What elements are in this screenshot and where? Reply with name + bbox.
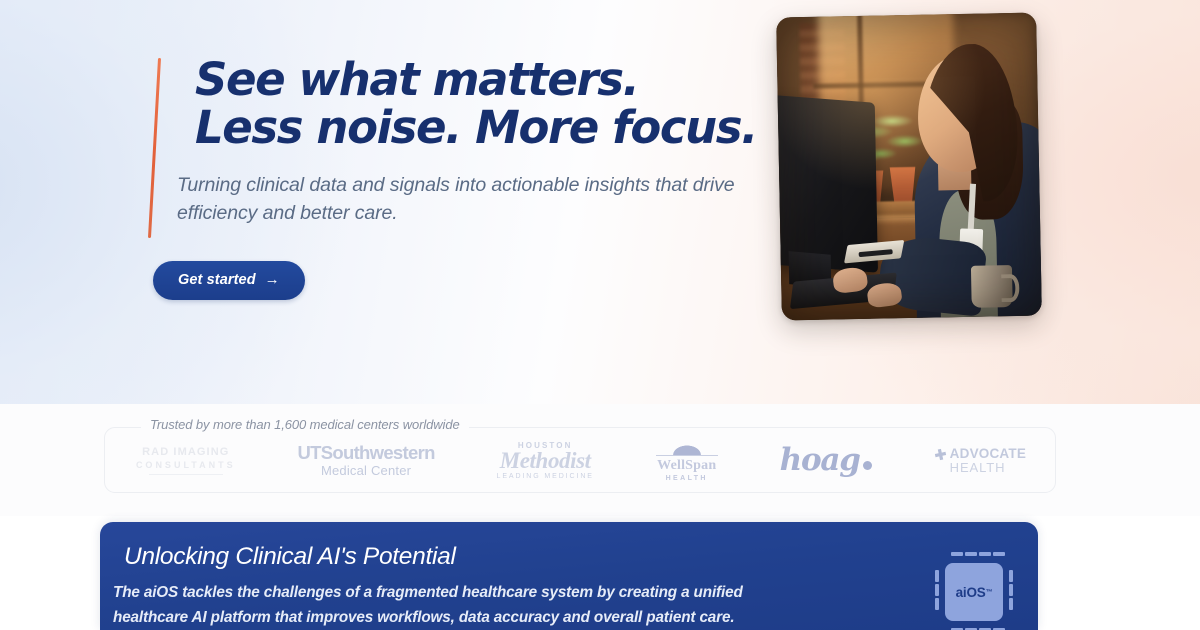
- logo-wellspan-line-1: WellSpan: [657, 459, 716, 473]
- chip-pin-left-1: [935, 570, 939, 582]
- logo-advocate-health[interactable]: ADVOCATE HEALTH: [934, 447, 1026, 474]
- hero-photo: [776, 13, 1042, 321]
- logo-advocate-line-1: ADVOCATE: [950, 447, 1026, 461]
- logo-hoag-wordmark-wrap: hoag: [780, 445, 872, 477]
- page-root: See what matters. Less noise. More focus…: [0, 0, 1200, 630]
- feature-card-body-line-1: The aiOS tackles the challenges of a fra…: [113, 581, 903, 606]
- chip-pin-right-2: [1009, 584, 1013, 596]
- trusted-by-band: Trusted by more than 1,600 medical cente…: [0, 404, 1200, 516]
- logo-rad-rule: [149, 474, 223, 475]
- logo-rad-line-1: RAD IMAGING: [142, 447, 229, 458]
- logo-ut-southwestern[interactable]: UTSouthwestern Medical Center: [297, 444, 434, 477]
- chip-pin-top-2: [965, 552, 977, 556]
- get-started-label: Get started: [178, 272, 256, 288]
- logo-advocate-line-2: HEALTH: [950, 461, 1006, 474]
- hero-cta-wrapper: Get started →: [153, 261, 773, 300]
- chip-pin-right-1: [1009, 570, 1013, 582]
- logo-rad-imaging-consultants[interactable]: RAD IMAGING CONSULTANTS: [136, 447, 236, 474]
- hero-section: See what matters. Less noise. More focus…: [0, 0, 1200, 404]
- logo-wellspan-health[interactable]: WellSpan HEALTH: [656, 440, 718, 482]
- hero-subheadline: Turning clinical data and signals into a…: [177, 172, 755, 227]
- chip-pin-top-1: [951, 552, 963, 556]
- logo-methodist-line-2: Methodist: [500, 449, 591, 472]
- chip-pin-top-4: [993, 552, 1005, 556]
- feature-card: Unlocking Clinical AI's Potential The ai…: [100, 522, 1038, 630]
- logo-hoag-wordmark: hoag: [780, 445, 860, 477]
- chip-pin-top-3: [979, 552, 991, 556]
- headline-line-2: Less noise. More focus.: [195, 104, 773, 152]
- logo-methodist-line-3: LEADING MEDICINE: [497, 473, 594, 480]
- logo-houston-methodist[interactable]: HOUSTON Methodist LEADING MEDICINE: [497, 442, 594, 481]
- headline-line-1: See what matters.: [195, 53, 638, 106]
- sunrise-arc-icon: [656, 440, 718, 456]
- feature-card-body: The aiOS tackles the challenges of a fra…: [113, 581, 903, 630]
- aios-chip-icon: aiOS™: [932, 550, 1016, 630]
- logo-hoag[interactable]: hoag: [780, 445, 872, 477]
- chip-label-wrap: aiOS™: [945, 563, 1003, 621]
- logo-bar: Trusted by more than 1,600 medical cente…: [104, 427, 1056, 493]
- feature-card-body-line-2: healthcare AI platform that improves wor…: [113, 609, 734, 626]
- chip-trademark: ™: [986, 589, 993, 596]
- logo-utsw-line-1: UTSouthwestern: [297, 444, 434, 463]
- medical-cross-icon: [934, 448, 947, 461]
- logo-rad-line-2: CONSULTANTS: [136, 461, 236, 470]
- arrow-right-icon: →: [265, 272, 280, 287]
- logo-wellspan-line-2: HEALTH: [666, 475, 708, 482]
- logo-advocate-top-row: ADVOCATE: [934, 447, 1026, 461]
- hero-photo-scene: [776, 13, 1042, 321]
- photo-coffee-mug: [971, 265, 1013, 308]
- logo-utsw-line-2: Medical Center: [321, 464, 411, 477]
- chip-pin-right-3: [1009, 598, 1013, 610]
- chip-label: aiOS: [956, 585, 986, 600]
- get-started-button[interactable]: Get started →: [153, 261, 305, 300]
- accent-rule-icon: [148, 58, 161, 238]
- logo-hoag-dot-icon: [863, 461, 872, 470]
- hero-copy: See what matters. Less noise. More focus…: [153, 56, 773, 300]
- chip-pin-left-2: [935, 584, 939, 596]
- logo-row: RAD IMAGING CONSULTANTS UTSouthwestern M…: [105, 428, 1057, 494]
- chip-pin-left-3: [935, 598, 939, 610]
- page-title: See what matters. Less noise. More focus…: [195, 56, 773, 151]
- feature-card-title: Unlocking Clinical AI's Potential: [124, 543, 456, 571]
